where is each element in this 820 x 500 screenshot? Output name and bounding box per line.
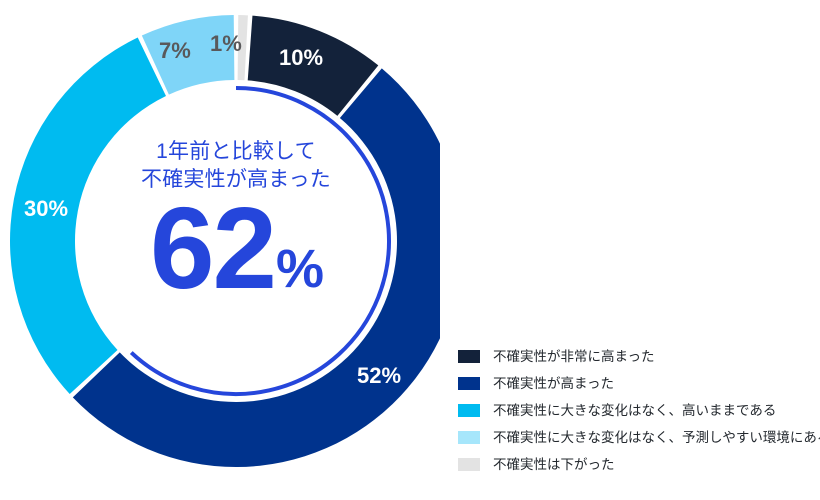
legend-swatch-icon: [458, 377, 480, 390]
donut-slice[interactable]: [238, 15, 248, 80]
legend-swatch-icon: [458, 350, 480, 363]
legend-item[interactable]: 不確実性に大きな変化はなく、高いままである: [458, 397, 820, 424]
donut-slice-group: [10, 15, 440, 467]
legend-item-label: 不確実性に大きな変化はなく、高いままである: [493, 404, 776, 418]
legend-item[interactable]: 不確実性は下がった: [458, 451, 820, 478]
highlight-arc: [131, 88, 389, 394]
chart-legend: 不確実性が非常に高まった不確実性が高まった不確実性に大きな変化はなく、高いままで…: [458, 343, 820, 478]
chart-canvas: 1年前と比較して 不確実性が高まった 62% 1%10%52%30%7% 不確実…: [0, 0, 820, 500]
legend-swatch-icon: [458, 404, 480, 417]
legend-item-label: 不確実性に大きな変化はなく、予測しやすい環境にある: [493, 431, 820, 445]
donut-chart: [0, 0, 440, 500]
legend-swatch-icon: [458, 458, 480, 471]
legend-item-label: 不確実性が高まった: [493, 377, 614, 391]
legend-item-label: 不確実性が非常に高まった: [493, 350, 654, 364]
legend-item[interactable]: 不確実性が非常に高まった: [458, 343, 820, 370]
legend-swatch-icon: [458, 431, 480, 444]
legend-item[interactable]: 不確実性が高まった: [458, 370, 820, 397]
legend-item-label: 不確実性は下がった: [493, 458, 615, 472]
legend-item[interactable]: 不確実性に大きな変化はなく、予測しやすい環境にある: [458, 424, 820, 451]
donut-slice[interactable]: [10, 37, 166, 394]
